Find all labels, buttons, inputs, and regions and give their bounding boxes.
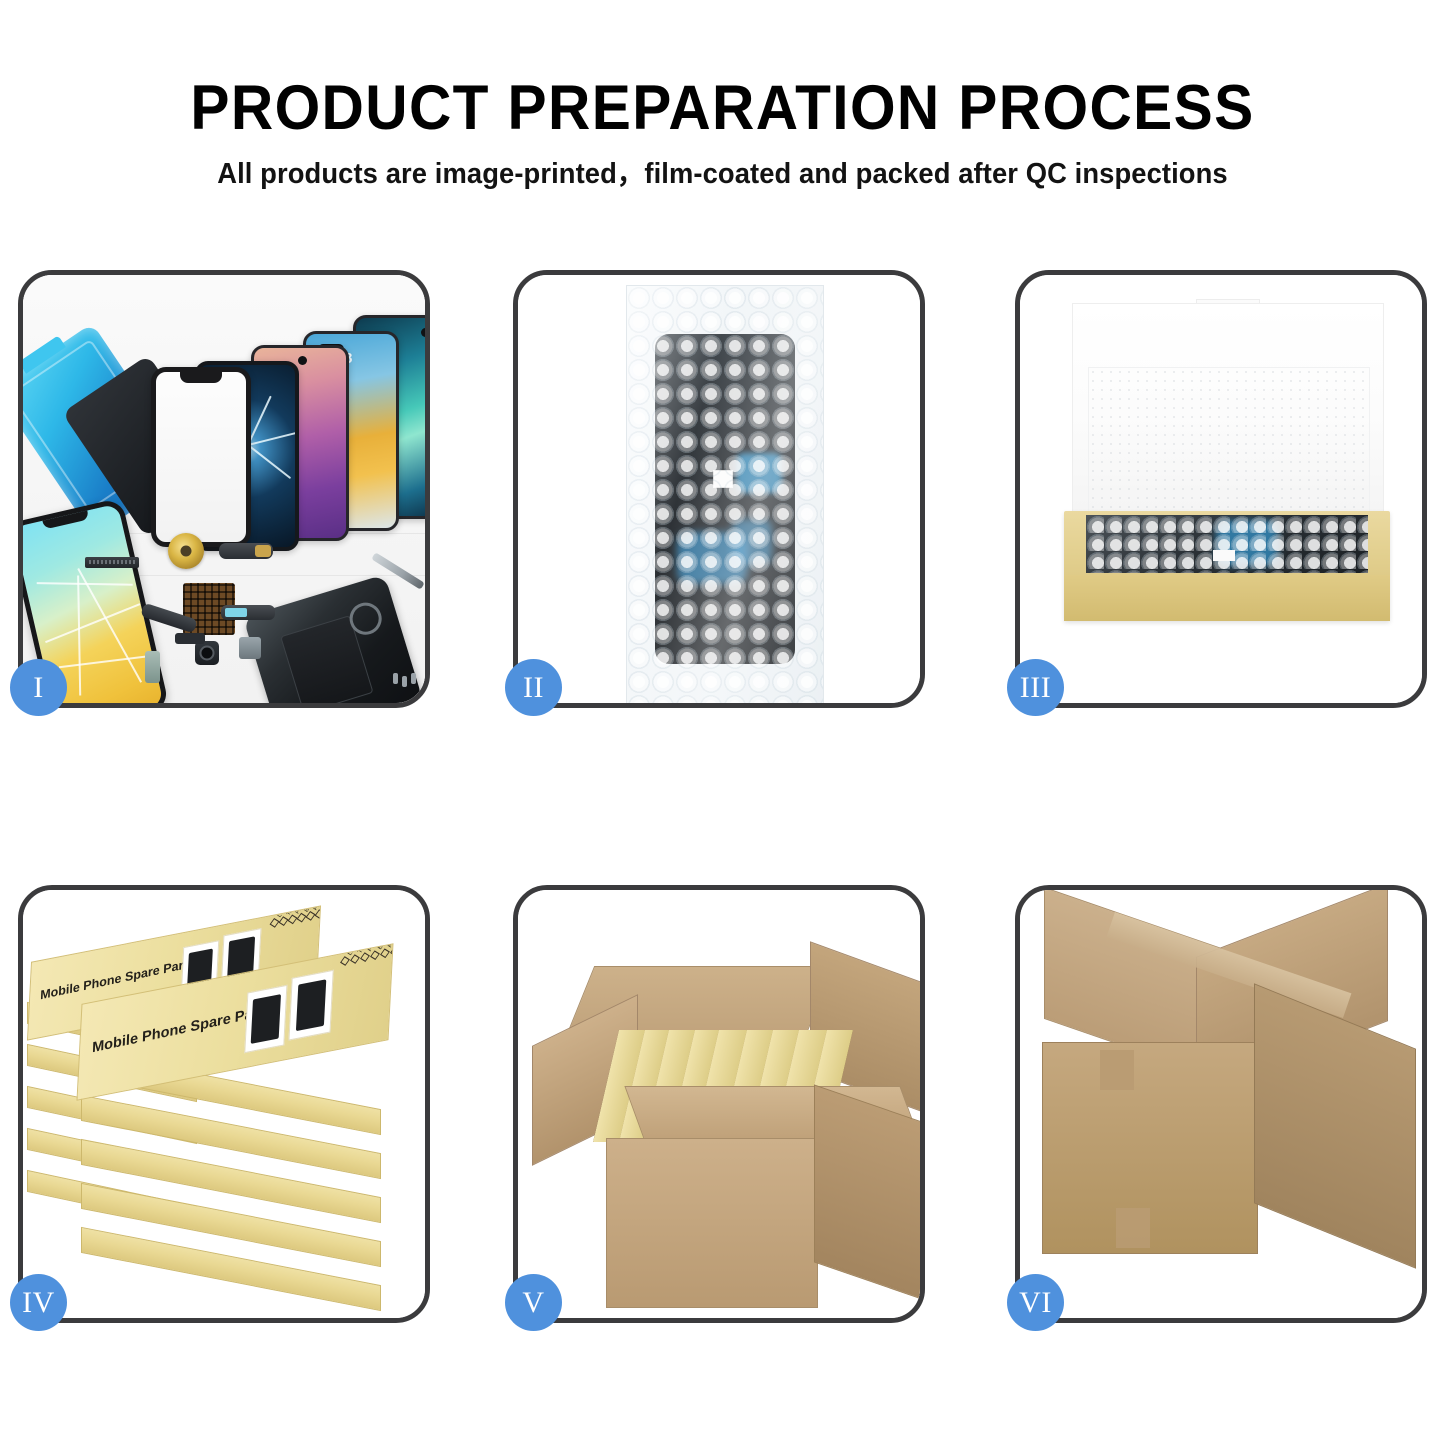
- carton-front-wall: [1042, 1042, 1258, 1254]
- bag-gloss: [627, 286, 823, 703]
- open-inner-box-photo: [1020, 275, 1422, 703]
- tray-front-wall: [1064, 575, 1390, 621]
- carton-front-wall: [606, 1138, 818, 1308]
- step-badge-5: V: [505, 1274, 562, 1331]
- sim-tray: [145, 651, 160, 683]
- carton-side-wall: [1254, 983, 1416, 1268]
- process-step-4[interactable]: Mobile Phone Spare Parts LCD Digitizer T…: [18, 885, 430, 1323]
- tape-seal-lower: [1116, 1208, 1150, 1248]
- carton-side-wall: [814, 1084, 920, 1301]
- front-glass-black: [151, 367, 251, 547]
- earpiece-speaker: [85, 557, 139, 568]
- step-badge-6: VI: [1007, 1274, 1064, 1331]
- process-step-2[interactable]: II: [513, 270, 925, 708]
- shield-plate: [239, 637, 261, 659]
- button-part: [175, 633, 205, 644]
- process-step-5[interactable]: V: [513, 885, 925, 1323]
- screws: [393, 673, 419, 685]
- foam-insert: [1088, 367, 1370, 521]
- taptic-coil: [168, 533, 204, 569]
- box-phone-thumb: [244, 985, 287, 1053]
- yellow-box-tray: [1064, 511, 1390, 621]
- wrapped-screen-in-box: [1086, 515, 1368, 573]
- step-badge-4: IV: [10, 1274, 67, 1331]
- flex-cable: [219, 543, 273, 559]
- tape-seal-upper: [1100, 1050, 1134, 1090]
- step-badge-2: II: [505, 659, 562, 716]
- sealed-carton-photo: [1020, 890, 1422, 1318]
- stacked-boxes-photo: Mobile Phone Spare Parts LCD Digitizer T…: [23, 890, 425, 1318]
- flex-cable: [221, 605, 275, 620]
- open-carton-photo: [518, 890, 920, 1318]
- box-phone-thumb: [288, 970, 333, 1041]
- camera-module: [195, 641, 219, 665]
- process-step-6[interactable]: VI: [1015, 885, 1427, 1323]
- bubble-wrap-bag: [626, 285, 824, 703]
- process-step-1[interactable]: 08:08: [18, 270, 430, 708]
- process-step-3[interactable]: III: [1015, 270, 1427, 708]
- process-step-grid: 08:08: [0, 0, 1445, 1445]
- punch-hole-camera: [421, 328, 425, 337]
- punch-hole-camera: [298, 356, 307, 365]
- step-badge-1: I: [10, 659, 67, 716]
- bubble-wrap-photo: [518, 275, 920, 703]
- step-badge-3: III: [1007, 659, 1064, 716]
- parts-collage-photo: 08:08: [23, 275, 425, 703]
